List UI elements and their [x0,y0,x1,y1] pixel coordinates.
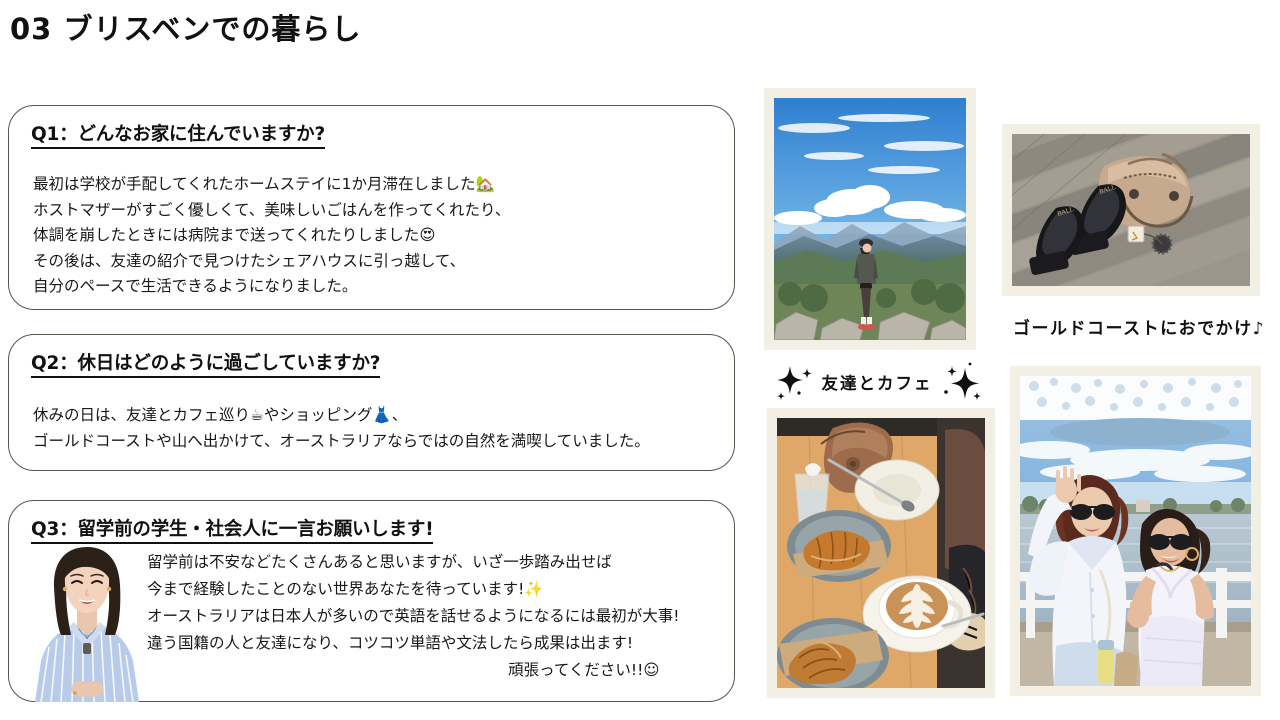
avatar [27,539,147,702]
qa-body-q2: 休みの日は、友達とカフェ巡り☕やショッピング👗、 ゴールドコーストや山へ出かけて… [33,403,650,454]
qa-heading-q2: Q2：休日はどのように過ごしていますか? [31,349,380,378]
qa-box-q1: Q1：どんなお家に住んでいますか? 最初は学校が手配してくれたホームステイに1か… [8,105,735,310]
photo-shoes-and-bag: BALL BALL [1002,124,1260,296]
slide-canvas: 03 ブリスベンでの暮らし Q1：どんなお家に住んでいますか? 最初は学校が手配… [0,0,1280,720]
qa-line: ホストマザーがすごく優しくて、美味しいごはんを作ってくれたり、 [33,198,510,224]
qa-body-q1: 最初は学校が手配してくれたホームステイに1か月滞在しました🏡 ホストマザーがすご… [33,172,510,300]
sparkle-icon-right [939,362,983,402]
qa-line: 体調を崩したときには病院まで送ってくれたりしました😍 [33,223,510,249]
qa-box-q3: Q3：留学前の学生・社会人に一言お願いします! [8,500,735,702]
photo-cafe-table [767,408,995,698]
qa-closing-line: 頑張ってください!!☺ [147,657,679,684]
photo-mountain [764,88,976,350]
caption-gold-coast: ゴールドコーストにおでかけ♪ [1013,314,1265,339]
qa-body-q3: 留学前は不安などたくさんあると思いますが、いざ一歩踏み出せば 今まで経験したこと… [147,549,679,684]
sparkle-icon-left [774,362,816,402]
qa-line: 自分のペースで生活できるようになりました。 [33,274,510,300]
qa-line: その後は、友達の紹介で見つけたシェアハウスに引っ越して、 [33,249,510,275]
qa-line: 違う国籍の人と友達になり、コツコツ単語や文法したら成果は出ます! [147,630,679,657]
qa-heading-q1: Q1：どんなお家に住んでいますか? [31,120,325,149]
qa-line: 留学前は不安などたくさんあると思いますが、いざ一歩踏み出せば [147,549,679,576]
qa-line: 今まで経験したことのない世界あなたを待っています!✨ [147,576,679,603]
qa-line: オーストラリアは日本人が多いので英語を話せるようになるには最初が大事! [147,603,679,630]
qa-line: ゴールドコーストや山へ出かけて、オーストラリアならではの自然を満喫していました。 [33,429,650,455]
caption-cafe-wrap: 友達とカフェ [762,362,994,402]
caption-cafe: 友達とカフェ [822,370,933,394]
qa-line: 休みの日は、友達とカフェ巡り☕やショッピング👗、 [33,403,650,429]
qa-box-q2: Q2：休日はどのように過ごしていますか? 休みの日は、友達とカフェ巡り☕やショッ… [8,334,735,471]
photo-beach-friends [1010,366,1261,696]
page-title: 03 ブリスベンでの暮らし [10,6,361,48]
qa-line: 最初は学校が手配してくれたホームステイに1か月滞在しました🏡 [33,172,510,198]
